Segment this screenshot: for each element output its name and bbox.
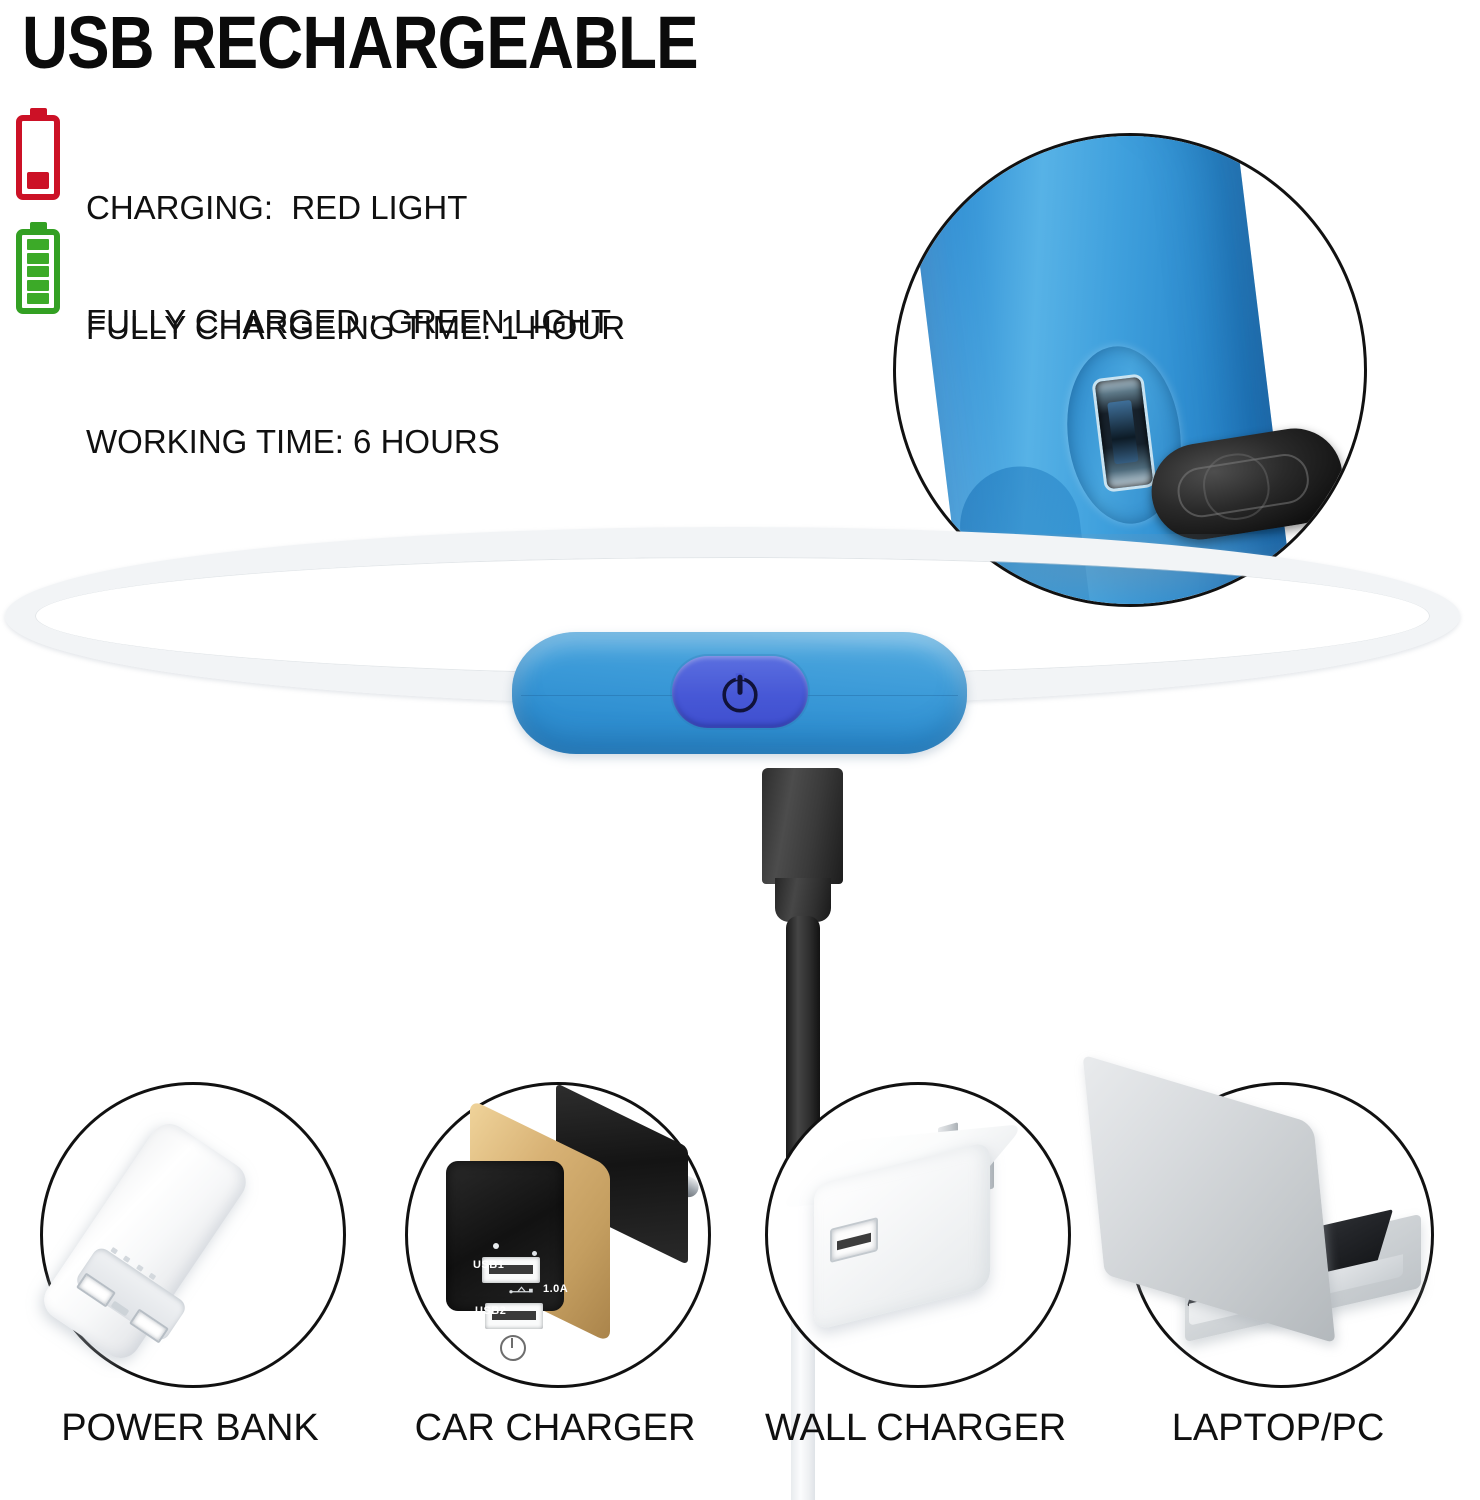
car-charger-icon: USB1 1.0A USB2 2.1A: [424, 1105, 692, 1365]
spec-row-charged: FULLY CHARGED : GREEN LIGHT WORKING TIME…: [16, 222, 611, 542]
battery-level-bar: [27, 172, 49, 189]
indicator-led-secondary: [532, 1251, 537, 1256]
page-title: USB RECHARGEABLE: [22, 4, 698, 82]
battery-segment: [27, 293, 49, 304]
charging-option-laptop: LAPTOP/PC: [1128, 1082, 1428, 1450]
spec-line: FULLY CHARGED : GREEN LIGHT: [86, 302, 611, 342]
battery-body: [16, 115, 60, 200]
option-label: WALL CHARGER: [765, 1406, 1065, 1450]
battery-segment: [27, 239, 49, 250]
wall-charger-icon: [786, 1119, 1052, 1355]
usb2-amp-label: 2.1A: [546, 1327, 571, 1339]
option-label: CAR CHARGER: [405, 1406, 705, 1450]
laptop-icon: [1093, 1093, 1453, 1373]
charging-option-wall-charger: WALL CHARGER: [765, 1082, 1065, 1450]
power-button[interactable]: [672, 656, 808, 728]
spec-line: WORKING TIME: 6 HOURS: [86, 422, 611, 462]
battery-low-red-icon: [16, 108, 60, 200]
usb1-amp-label: 1.0A: [543, 1283, 568, 1295]
usb2-label: USB2: [475, 1305, 506, 1317]
option-circle: [765, 1082, 1071, 1388]
charging-option-power-bank: POWER BANK: [40, 1082, 340, 1450]
spec-text-charged: FULLY CHARGED : GREEN LIGHT WORKING TIME…: [86, 222, 611, 542]
battery-body: [16, 229, 60, 314]
battery-full-green-icon: [16, 222, 60, 314]
indicator-led: [493, 1243, 499, 1249]
option-circle: USB1 1.0A USB2 2.1A: [405, 1082, 711, 1388]
option-circle: [1128, 1082, 1434, 1388]
option-label: LAPTOP/PC: [1128, 1406, 1428, 1450]
usb-connector-plug: [762, 768, 843, 884]
car-charger-face: USB1 1.0A USB2 2.1A: [446, 1161, 564, 1311]
collar-control-module: [512, 632, 967, 754]
power-icon: [717, 669, 763, 715]
usb-symbol-icon: [508, 1285, 538, 1297]
usb1-label: USB1: [473, 1259, 504, 1271]
option-circle: [40, 1082, 346, 1388]
power-bank-icon: [65, 1115, 315, 1355]
infographic-page: USB RECHARGEABLE CHARGING: RED LIGHT FUL…: [0, 0, 1480, 1500]
battery-segment: [27, 280, 49, 291]
charging-option-car-charger: USB1 1.0A USB2 2.1A CAR CHARGER: [405, 1082, 705, 1450]
micro-usb-inner: [1107, 400, 1138, 464]
battery-segment: [27, 253, 49, 264]
battery-segment: [27, 266, 49, 277]
option-label: POWER BANK: [40, 1406, 340, 1450]
laptop-lid: [1083, 1055, 1336, 1344]
power-icon: [500, 1335, 526, 1361]
